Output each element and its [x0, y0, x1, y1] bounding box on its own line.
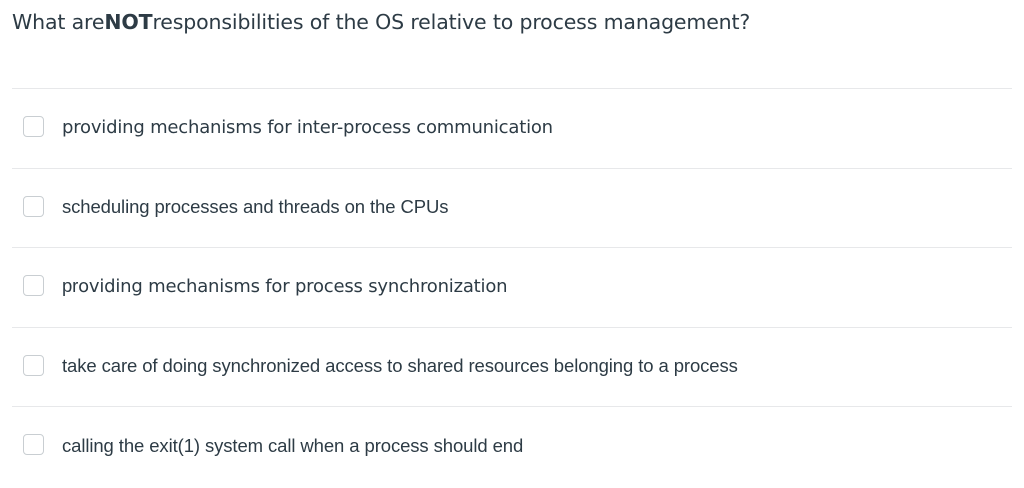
answer-option-4[interactable]: take care of doing synchronized access t…: [0, 327, 1024, 407]
answer-option-label: providing mechanisms for process synchro…: [62, 273, 507, 300]
checkbox-unchecked-icon[interactable]: [23, 355, 44, 376]
question-emphasis-not: NOT: [104, 6, 152, 38]
answer-option-label-rest: oviding mechanisms for process synchroni…: [78, 276, 507, 297]
answer-option-label-lead: pr: [62, 275, 78, 296]
quiz-question-block: What are NOT responsibilities of the OS …: [0, 0, 1024, 488]
checkbox-unchecked-icon[interactable]: [23, 275, 44, 296]
answer-option-1[interactable]: providing mechanisms for inter-process c…: [0, 88, 1024, 168]
answer-option-label: take care of doing synchronized access t…: [62, 353, 738, 379]
checkbox-unchecked-icon[interactable]: [23, 196, 44, 217]
question-text-before: What are: [12, 6, 104, 38]
answer-option-list: providing mechanisms for inter-process c…: [0, 88, 1024, 486]
answer-option-3[interactable]: providing mechanisms for process synchro…: [0, 247, 1024, 327]
answer-option-label: calling the exit(1) system call when a p…: [62, 433, 523, 459]
answer-option-5[interactable]: calling the exit(1) system call when a p…: [0, 406, 1024, 486]
answer-option-label: scheduling processes and threads on the …: [62, 194, 448, 220]
answer-option-label: providing mechanisms for inter-process c…: [62, 115, 553, 141]
checkbox-unchecked-icon[interactable]: [23, 116, 44, 137]
answer-option-2[interactable]: scheduling processes and threads on the …: [0, 168, 1024, 248]
question-stem: What are NOT responsibilities of the OS …: [12, 2, 1012, 42]
question-text-after: responsibilities of the OS relative to p…: [152, 6, 750, 38]
checkbox-unchecked-icon[interactable]: [23, 434, 44, 455]
